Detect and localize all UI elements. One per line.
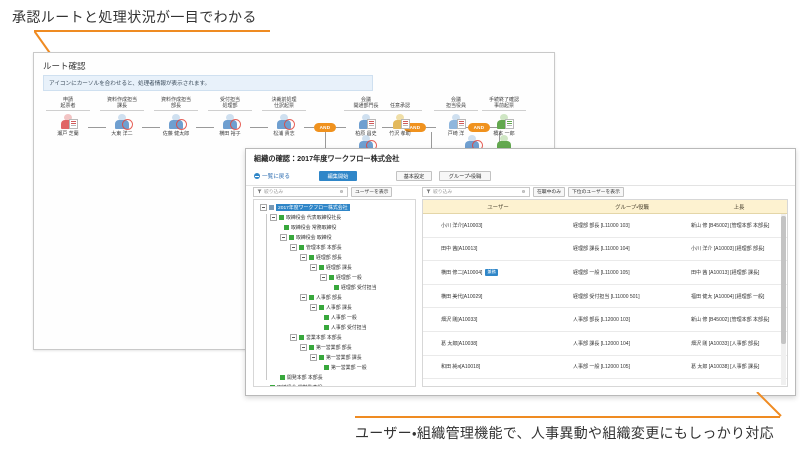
tree-node-label: 経理部 一般 [336,274,362,281]
tree-node[interactable]: 経理部 受付担当 [334,284,377,291]
tree-node-label: 経理部 受付担当 [341,284,377,291]
org-unit-icon [270,385,275,387]
status-badge: 兼務 [485,269,497,276]
flow-node[interactable]: 資料作成担当 部長 佐藤 健太郎 [150,97,202,137]
tree-node[interactable]: 経理部 部長 [300,254,342,261]
grid-search-input[interactable]: 絞り込み [422,187,530,197]
table-scrollbar[interactable] [781,214,786,385]
funnel-icon [426,189,431,194]
gear-icon[interactable] [339,189,344,194]
cell-boss: 田中 茜 [A10013] [経理部 課長] [691,269,787,276]
route-notice-text: アイコンにカーソルを合わせると、処理者情報が表示されます。 [49,79,210,87]
organization-window: 組織の確認：2017年度ワークフロー株式会社 一覧に戻る 編集開始 基本設定 グ… [245,148,796,396]
tree-expander-icon[interactable] [290,244,297,251]
tree-expander-icon[interactable] [260,204,267,211]
basic-settings-button[interactable]: 基本設定 [396,171,432,181]
flow-node-role: 任意承認 [378,103,422,111]
show-subordinate-users-button[interactable]: 下位のユーザーを表示 [568,187,624,197]
tree-expander-icon[interactable] [310,304,317,311]
column-header-boss: 上長 [691,200,787,213]
flow-node-name: 横田 裕子 [204,130,256,137]
organization-window-title: 組織の確認：2017年度ワークフロー株式会社 [254,154,399,164]
organization-tree[interactable]: 2017年度ワークフロー株式会社 取締役会 代表取締役社長 取締役会 常務取締役… [253,199,416,387]
flow-node[interactable]: 資料作成担当 課長 大東 洋二 [96,97,148,137]
applicant-avatar-icon [60,114,77,129]
cell-user: 田中 茜[A10013] [423,245,573,252]
user-name: 横田 修二[A10004] [441,269,482,276]
tree-node[interactable]: 営業本部 本部長 [290,334,342,341]
tree-expander-icon[interactable] [290,334,297,341]
tree-node-label: 人事部 部長 [316,294,342,301]
tree-node[interactable]: 人事部 受付担当 [324,324,367,331]
tree-node[interactable]: 取締役会 取締役 [280,234,332,241]
tree-node[interactable]: 取締役会 常勤監査役 [270,384,322,387]
tree-node-label: 開発本部 本部長 [287,374,323,381]
cell-group: 経理部 一般 [L11000 105] [573,269,691,276]
back-to-list-label: 一覧に戻る [262,172,290,180]
org-unit-icon [299,335,304,340]
table-row[interactable]: 田中 茜[A10013] 経理部 課長 [L11000 104] 小川 洋介 [… [423,238,787,262]
table-row[interactable]: 和田 純я[A10018] 人事部 一般 [L12000 105] 葛 太郎 [… [423,356,787,380]
cell-boss: 葛 太郎 [A10038] [人事部 課長] [691,363,787,370]
grid-search-placeholder: 絞り込み [433,188,452,195]
org-unit-icon [334,285,339,290]
organization-body: 絞り込み ユーザーを表示 2017年度ワークフロー株式会社 [246,185,795,395]
tree-node-label: 取締役会 代表取締役社長 [286,214,341,221]
org-unit-icon [319,355,324,360]
cell-group: 経理部 課長 [L11000 104] [573,245,691,252]
org-unit-icon [329,275,334,280]
page-root: 承認ルートと処理状況が一目でわかる ルート確認 アイコンにカーソルを合わせると、… [0,0,800,450]
org-unit-icon [324,325,329,330]
org-unit-icon [309,295,314,300]
tree-node-label: 第一営業部 課長 [326,354,362,361]
flow-node-role: 資料作成担当 部長 [154,97,198,111]
tree-node[interactable]: 人事部 部長 [300,294,342,301]
user-name: 横田 美代[A10029] [441,293,482,300]
approver-avatar-icon [168,114,185,129]
tree-search-input[interactable]: 絞り込み [253,187,348,197]
tree-node[interactable]: 経理部 一般 [320,274,362,281]
cell-group: 人事部 部長 [L12000 103] [573,316,691,323]
tree-node-label: 管理本部 本部長 [306,244,342,251]
tree-node-label: 人事部 課長 [326,304,352,311]
route-notice-bar: アイコンにカーソルを合わせると、処理者情報が表示されます。 [43,75,373,91]
column-header-group: グループ・役職 [573,200,691,213]
flow-node-name: 佐藤 健太郎 [150,130,202,137]
table-scrollbar-thumb[interactable] [781,216,786,344]
table-row[interactable]: 岡辺 文子[A10042] 人事部 受付担当 [L12000 501] 葛 太郎… [423,379,787,387]
tree-node-label: 2017年度ワークフロー株式会社 [276,204,350,211]
tree-node[interactable]: 開発本部 本部長 [280,374,323,381]
top-caption-rule [35,30,270,32]
org-unit-icon [309,255,314,260]
tree-node[interactable]: 人事部 一般 [324,314,357,321]
approver-avatar-icon [114,114,131,129]
flow-node[interactable]: 手続終了確認 事前起票 橋本 一郎 [478,97,530,137]
grid-filter-row: 絞り込み 在職中のみ 下位のユーザーを表示 [422,186,788,197]
flow-node[interactable]: 申請 起票者 瀬戸 芝蘭 [42,97,94,137]
final-approver-avatar-icon [496,114,513,129]
cell-group: 人事部 課長 [L12000 104] [573,340,691,347]
approver-avatar-icon [276,114,293,129]
tree-expander-icon[interactable] [310,264,317,271]
back-arrow-icon [254,173,260,179]
tree-search-placeholder: 絞り込み [264,188,283,195]
tree-node[interactable]: 人事部 課長 [310,304,352,311]
approver-avatar-icon [222,114,239,129]
user-name: 和田 純я[A10018] [441,363,480,370]
tree-node[interactable]: 第一営業部 課長 [310,354,362,361]
cell-user: 葛 太郎[A10038] [423,340,573,347]
user-grid-pane: 絞り込み 在職中のみ 下位のユーザーを表示 ユーザー グループ・役職 上長 [422,185,788,387]
org-unit-icon [324,365,329,370]
tree-node-root[interactable]: 2017年度ワークフロー株式会社 [260,204,350,211]
flow-node-role: 決裁前処理 仕訳起票 [262,97,306,111]
tree-expander-icon[interactable] [300,294,307,301]
cell-boss: 畑沢 剛 [A10033] [人事部 部長] [691,340,787,347]
tree-node-label: 取締役会 常勤監査役 [277,384,322,387]
cell-user: 横田 修二[A10004] 兼務 [423,269,573,276]
cell-group: 人事部 一般 [L12000 105] [573,363,691,370]
org-unit-icon [319,265,324,270]
flow-node-name: 瀬戸 芝蘭 [42,130,94,137]
tree-node-label: 取締役会 取締役 [296,234,332,241]
user-name: 葛 太郎[A10038] [441,340,477,347]
tree-guide-line [266,214,267,380]
tree-node[interactable]: 取締役会 代表取締役社長 [270,214,341,221]
org-unit-icon [309,345,314,350]
cell-user: 横田 美代[A10029] [423,293,573,300]
table-row[interactable]: 葛 太郎[A10038] 人事部 課長 [L12000 104] 畑沢 剛 [A… [423,332,787,356]
tree-node-label: 第一営業部 一般 [331,364,367,371]
tree-node-label: 人事部 受付担当 [331,324,367,331]
user-name: 小川 洋介[A10003] [441,222,482,229]
org-unit-icon [299,245,304,250]
table-row[interactable]: 横田 修二[A10004] 兼務 経理部 一般 [L11000 105] 田中 … [423,261,787,285]
flow-node[interactable]: 受付担当 処理部 横田 裕子 [204,97,256,137]
column-header-user: ユーザー [423,200,573,213]
edit-start-button[interactable]: 編集開始 [319,171,357,181]
user-table: ユーザー グループ・役職 上長 小川 洋介[A10003] 経理部 部長 [L1… [422,199,788,387]
tree-node-label: 経理部 課長 [326,264,352,271]
approver-avatar-icon [448,114,465,129]
tree-expander-icon[interactable] [280,234,287,241]
table-row[interactable]: 横田 美代[A10029] 経理部 受付担当 [L11000 501] 福田 健… [423,285,787,309]
tree-filter-row: 絞り込み ユーザーを表示 [253,186,416,197]
flow-node-role: 会議 担当役員 [434,97,478,111]
org-unit-icon [279,215,284,220]
user-name: 田中 茜[A10013] [441,245,477,252]
cell-boss: 福田 健太 [A10004] [経理部 一般] [691,293,787,300]
flow-node-role: 申請 起票者 [46,97,90,111]
flow-node[interactable]: 任意承認 竹沢 孝助 [374,103,426,137]
flow-node-role: 受付担当 処理部 [208,97,252,111]
funnel-icon [257,189,262,194]
cell-user: 畑沢 剛[A10033] [423,316,573,323]
tree-node[interactable]: 第一営業部 一般 [324,364,367,371]
tree-expander-icon[interactable] [320,274,327,281]
route-window-title: ルート確認 [43,60,86,72]
organization-toolbar: 一覧に戻る 編集開始 基本設定 グループ・役職 [246,168,795,186]
user-name: 畑沢 剛[A10033] [441,316,477,323]
org-unit-icon [319,305,324,310]
cell-boss: 小川 洋介 [A10003] [経理部 部長] [691,245,787,252]
tree-expander-icon[interactable] [300,344,307,351]
top-caption: 承認ルートと処理状況が一目でわかる [12,7,257,27]
building-icon [269,205,274,210]
flow-node-name: 大東 洋二 [96,130,148,137]
and-gate: AND [314,123,336,132]
back-to-list-link[interactable]: 一覧に戻る [254,172,290,180]
flow-node-role: 手続終了確認 事前起票 [482,97,526,111]
tree-node-label: 第一営業部 部長 [316,344,352,351]
flow-node-role: 資料作成担当 課長 [100,97,144,111]
bottom-caption-rule [355,416,780,418]
approver-avatar-icon [392,114,409,129]
flow-node[interactable]: 会議 担当役員 戸崎 洋 [430,97,482,137]
tree-node-label: 人事部 一般 [331,314,357,321]
tree-node[interactable]: 管理本部 本部長 [290,244,342,251]
user-table-header: ユーザー グループ・役職 上長 [423,200,787,214]
org-unit-icon [280,375,285,380]
org-unit-icon [324,315,329,320]
org-unit-icon [284,225,289,230]
gear-icon[interactable] [521,189,526,194]
bottom-caption: ユーザー・組織管理機能で、人事異動や組織変更にもしっかり対応 [355,423,774,443]
cell-user: 和田 純я[A10018] [423,363,573,370]
table-row[interactable]: 畑沢 剛[A10033] 人事部 部長 [L12000 103] 新山 修 [B… [423,308,787,332]
flow-node-name: 松浦 貴志 [258,130,310,137]
tree-expander-icon[interactable] [270,214,277,221]
show-users-button[interactable]: ユーザーを表示 [351,187,392,197]
tree-expander-icon[interactable] [300,254,307,261]
cell-group: 経理部 受付担当 [L11000 501] [573,293,691,300]
approver-avatar-icon [358,114,375,129]
tree-node-label: 営業本部 本部長 [306,334,342,341]
flow-node[interactable]: 決裁前処理 仕訳起票 松浦 貴志 [258,97,310,137]
cell-boss: 新山 修 [B45002] [管理本部 本部長] [691,316,787,323]
bottom-pointer-arrow [755,392,795,422]
tree-node[interactable]: 第一営業部 部長 [300,344,352,351]
table-row[interactable]: 小川 洋介[A10003] 経理部 部長 [L11000 103] 新山 修 [… [423,214,787,238]
group-role-button[interactable]: グループ・役職 [439,171,491,181]
cell-user: 小川 洋介[A10003] [423,222,573,229]
tree-node[interactable]: 経理部 課長 [310,264,352,271]
tree-node-label: 取締役会 常務取締役 [291,224,336,231]
cell-boss: 新山 修 [B45002] [管理本部 本部長] [691,222,787,229]
cell-group: 経理部 部長 [L11000 103] [573,222,691,229]
active-only-button[interactable]: 在職中のみ [533,187,565,197]
tree-node[interactable]: 取締役会 常務取締役 [284,224,336,231]
tree-expander-icon[interactable] [310,354,317,361]
tree-node-label: 経理部 部長 [316,254,342,261]
org-unit-icon [289,235,294,240]
